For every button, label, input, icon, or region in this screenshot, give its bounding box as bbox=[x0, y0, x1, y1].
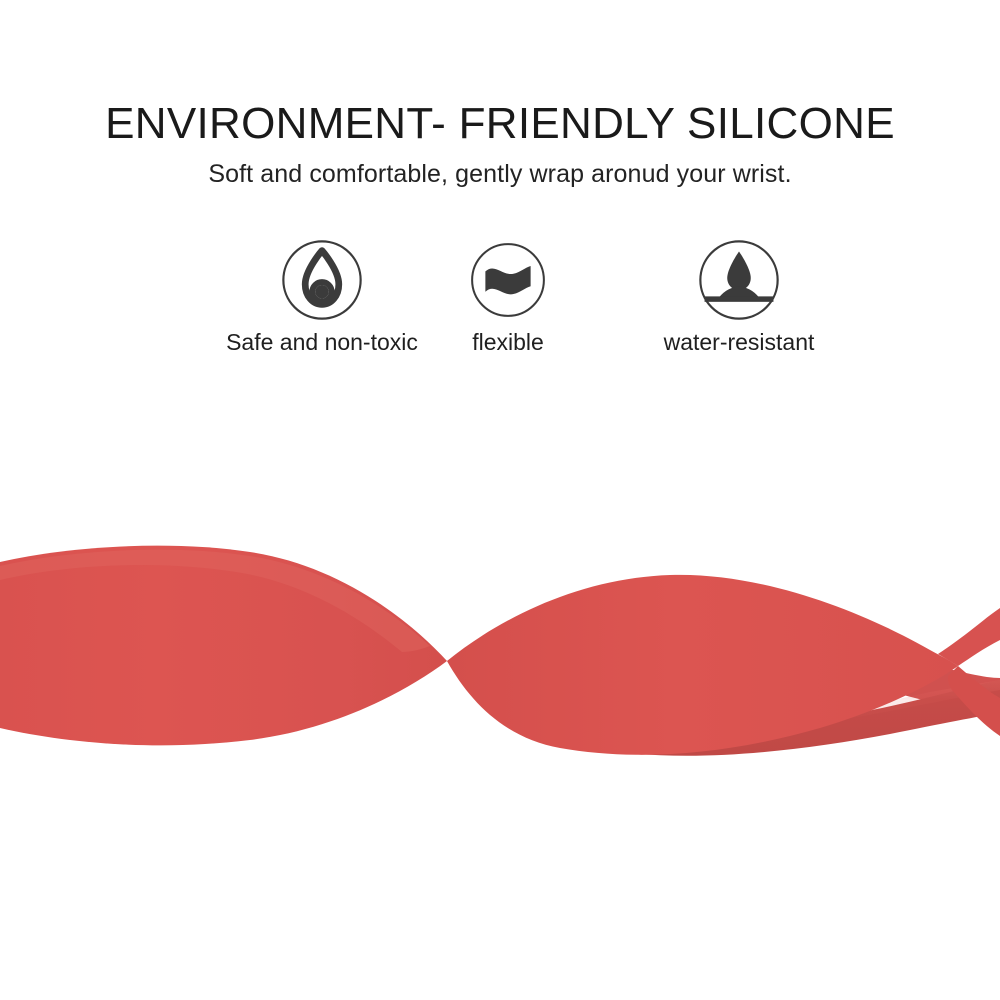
water-drop-on-surface-icon bbox=[697, 238, 781, 322]
page-subtitle: Soft and comfortable, gently wrap aronud… bbox=[0, 159, 1000, 189]
twisted-band-illustration bbox=[0, 500, 1000, 800]
page-title: ENVIRONMENT- FRIENDLY SILICONE bbox=[0, 98, 1000, 150]
feature-item-water-resistant: water-resistant bbox=[579, 238, 899, 356]
feature-label: water-resistant bbox=[579, 328, 899, 356]
band-tail-upper-right bbox=[938, 608, 1000, 666]
flame-droplet-icon bbox=[280, 238, 364, 322]
wavy-flag-icon bbox=[469, 241, 547, 319]
feature-label: Safe and non-toxic bbox=[207, 328, 437, 356]
product-feature-banner: ENVIRONMENT- FRIENDLY SILICONE Soft and … bbox=[0, 0, 1000, 1000]
band-front-lobe-left bbox=[0, 546, 447, 746]
product-image-twisted-band bbox=[0, 500, 1000, 800]
feature-item-flexible: flexible bbox=[437, 238, 579, 356]
feature-item-safe-and-non-toxic: Safe and non-toxic bbox=[207, 238, 437, 356]
feature-label: flexible bbox=[437, 328, 579, 356]
text-block: ENVIRONMENT- FRIENDLY SILICONE Soft and … bbox=[0, 98, 1000, 189]
feature-list: Safe and non-toxic flexible water-resist… bbox=[0, 238, 1000, 363]
